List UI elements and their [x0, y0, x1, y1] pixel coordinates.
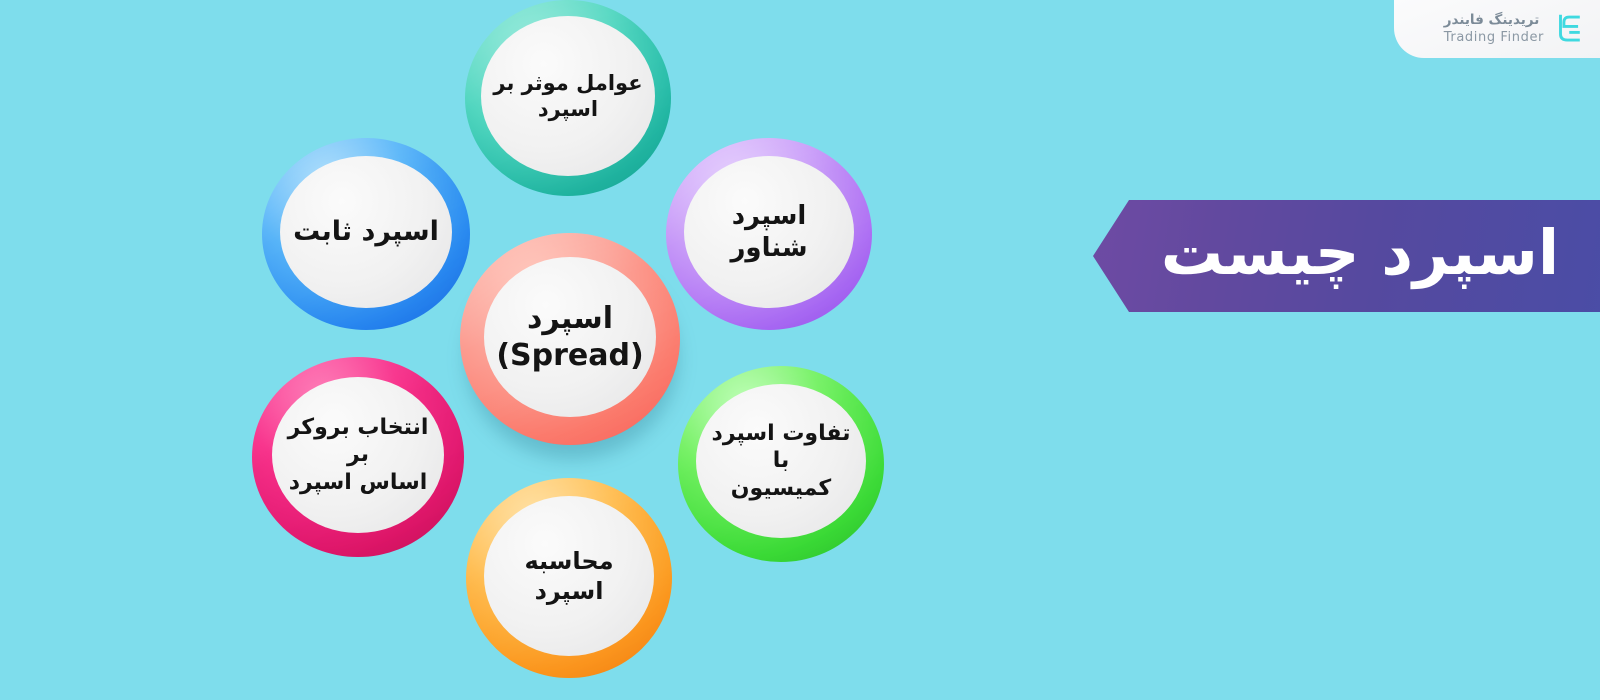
- brand-logo-panel[interactable]: تریدینگ فایندر Trading Finder: [1394, 0, 1600, 58]
- bubble-label: عوامل موثر بر اسپرد: [481, 70, 655, 123]
- bubble-face: عوامل موثر بر اسپرد: [481, 16, 655, 176]
- bubble-face: انتخاب بروکر بر اساس اسپرد: [272, 377, 444, 533]
- bubble-face: اسپرد ثابت: [280, 156, 452, 308]
- bubble-label: اسپرد ثابت: [287, 215, 445, 249]
- bubble-face: اسپرد (Spread): [484, 257, 656, 417]
- bubble-spread-vs-commission[interactable]: تفاوت اسپرد با کمیسیون: [678, 366, 884, 562]
- bubble-fixed-spread[interactable]: اسپرد ثابت: [262, 138, 470, 330]
- bubble-face: محاسبه اسپرد: [484, 496, 654, 656]
- bubble-spread-calculation[interactable]: محاسبه اسپرد: [466, 478, 672, 678]
- bubble-label-line-1: تفاوت اسپرد با: [712, 421, 851, 474]
- bubble-spread-center[interactable]: اسپرد (Spread): [460, 233, 680, 445]
- bubble-label: محاسبه اسپرد: [484, 546, 654, 606]
- bubble-label-line-1: اسپرد: [527, 301, 613, 336]
- bubble-label: انتخاب بروکر بر اساس اسپرد: [272, 414, 444, 497]
- infographic-canvas: تریدینگ فایندر Trading Finder اسپرد چیست…: [0, 0, 1600, 700]
- bubble-factors[interactable]: عوامل موثر بر اسپرد: [465, 0, 671, 196]
- bubble-label-line-2: کمیسیون: [731, 476, 831, 501]
- bubble-face: تفاوت اسپرد با کمیسیون: [696, 384, 866, 538]
- brand-name-fa: تریدینگ فایندر: [1444, 14, 1540, 28]
- tf-monogram-icon: [1552, 12, 1586, 46]
- bubble-label: اسپرد شناور: [684, 200, 854, 265]
- bubble-broker-choice[interactable]: انتخاب بروکر بر اساس اسپرد: [252, 357, 464, 557]
- title-banner: اسپرد چیست: [1093, 200, 1600, 312]
- bubble-label-line-1: انتخاب بروکر بر: [288, 415, 429, 468]
- page-title: اسپرد چیست: [1161, 222, 1559, 284]
- bubble-floating-spread[interactable]: اسپرد شناور: [666, 138, 872, 330]
- brand-text-block: تریدینگ فایندر Trading Finder: [1444, 14, 1544, 44]
- bubble-face: اسپرد شناور: [684, 156, 854, 308]
- bubble-label-line-2: اساس اسپرد: [289, 470, 428, 495]
- brand-name-en: Trading Finder: [1444, 31, 1544, 44]
- bubble-label: تفاوت اسپرد با کمیسیون: [696, 420, 866, 503]
- bubble-label: اسپرد (Spread): [490, 300, 649, 375]
- bubble-label-line-2: (Spread): [496, 338, 643, 373]
